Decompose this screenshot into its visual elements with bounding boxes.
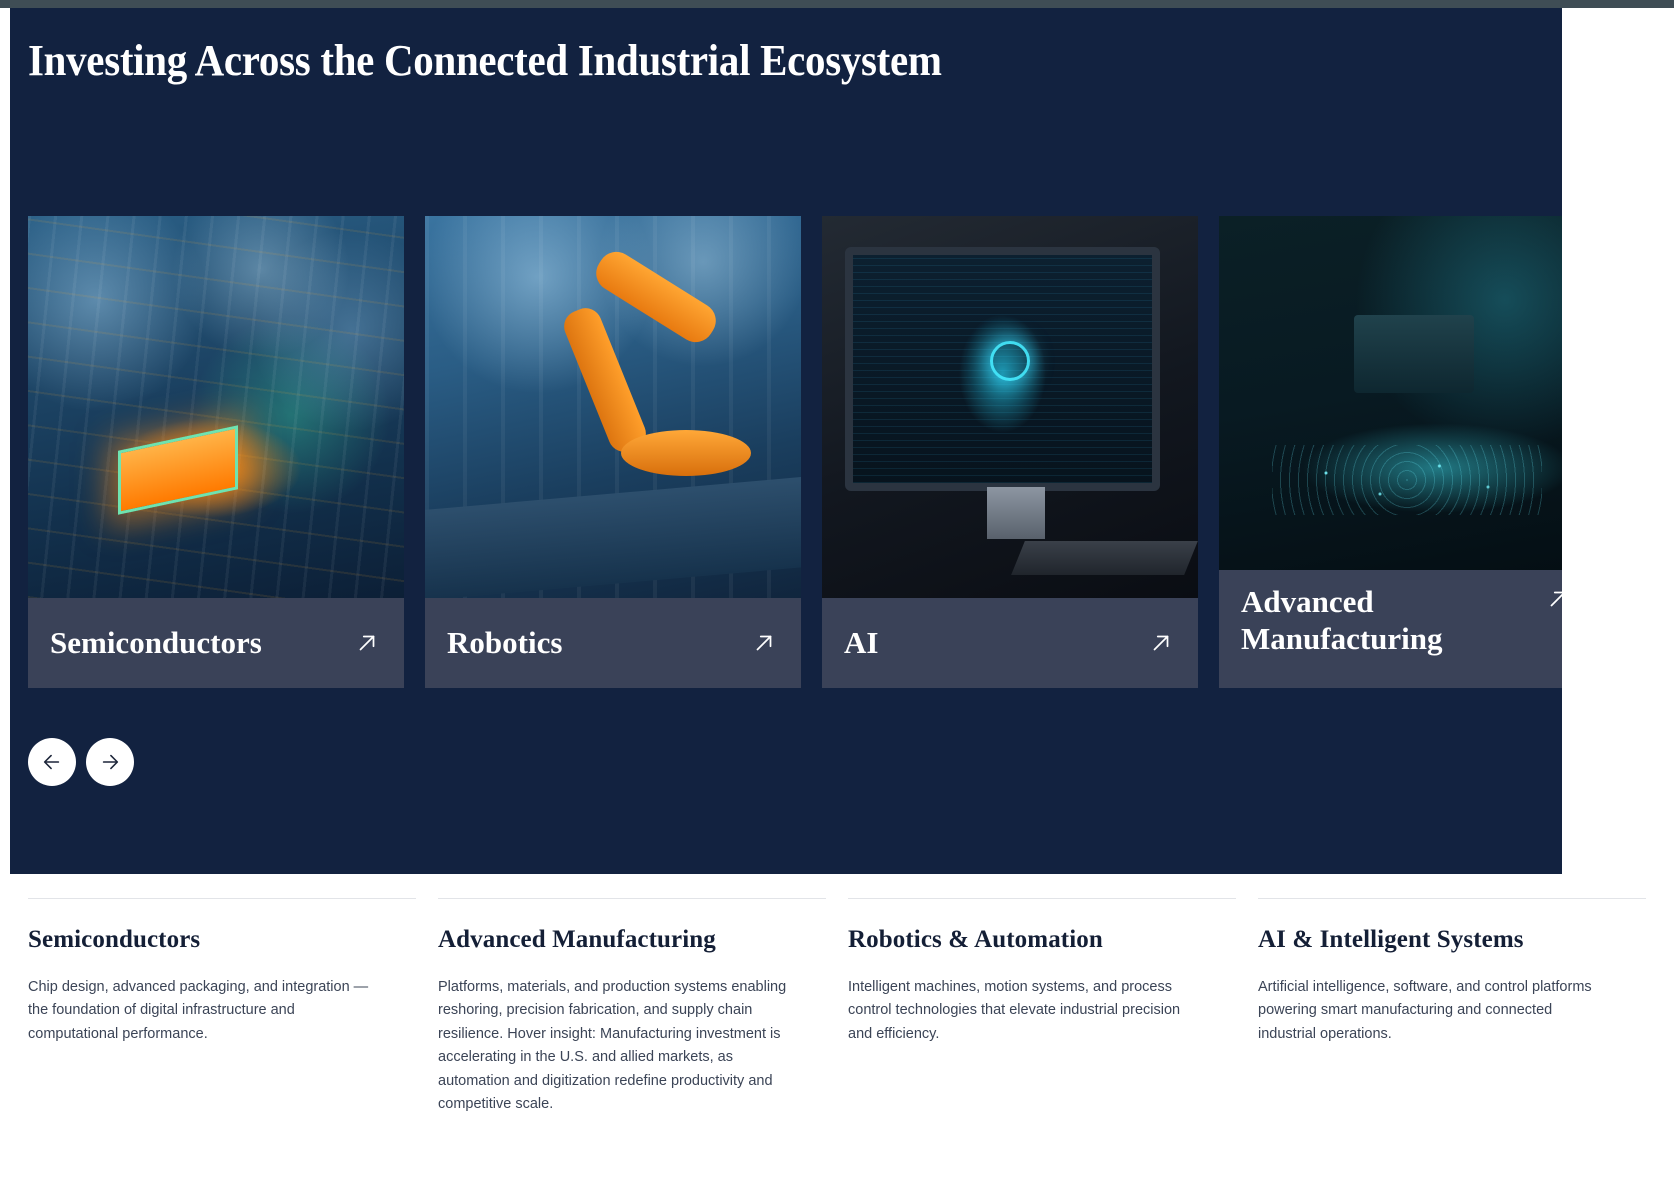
arrow-up-right-icon[interactable] (1146, 628, 1176, 658)
arrow-up-right-icon[interactable] (749, 628, 779, 658)
info-column-advanced-manufacturing: Advanced Manufacturing Platforms, materi… (438, 898, 826, 1194)
arrow-left-icon (41, 751, 63, 773)
arrow-right-icon (99, 751, 121, 773)
card-image-ai (822, 216, 1198, 598)
carousel-prev-button[interactable] (28, 738, 76, 786)
carousel-card-robotics[interactable]: Robotics (425, 216, 801, 688)
arrow-up-right-icon[interactable] (352, 628, 382, 658)
machine-tool-graphic (1354, 315, 1474, 393)
robot-base-graphic (621, 430, 751, 476)
card-caption: Semiconductors (28, 598, 404, 688)
monitor-graphic (845, 247, 1161, 491)
spark-particles-graphic (1272, 445, 1543, 515)
category-detail-columns: Semiconductors Chip design, advanced pac… (0, 898, 1674, 1194)
arrow-up-right-icon[interactable] (1543, 584, 1562, 614)
top-strip (0, 0, 1674, 8)
info-column-title: Advanced Manufacturing (438, 925, 792, 955)
page-title: Investing Across the Connected Industria… (28, 36, 942, 87)
card-label: Semiconductors (50, 625, 262, 662)
card-label: AI (844, 625, 878, 662)
info-column-semiconductors: Semiconductors Chip design, advanced pac… (28, 898, 416, 1194)
carousel-navigation[interactable] (28, 738, 134, 786)
monitor-stand-graphic (987, 487, 1045, 539)
info-column-robotics-automation: Robotics & Automation Intelligent machin… (848, 898, 1236, 1194)
info-column-title: Robotics & Automation (848, 925, 1202, 955)
card-caption: Robotics (425, 598, 801, 688)
category-carousel[interactable]: Semiconductors (28, 216, 1562, 694)
info-column-body: Artificial intelligence, software, and c… (1258, 976, 1610, 1046)
page-root: Investing Across the Connected Industria… (0, 0, 1674, 1194)
card-image-robotics (425, 216, 801, 598)
carousel-card-semiconductors[interactable]: Semiconductors (28, 216, 404, 688)
carousel-card-ai[interactable]: AI (822, 216, 1198, 688)
info-column-title: AI & Intelligent Systems (1258, 925, 1612, 955)
info-column-ai-intelligent-systems: AI & Intelligent Systems Artificial inte… (1258, 898, 1646, 1194)
card-caption: Advanced Manufacturing (1219, 570, 1562, 688)
carousel-next-button[interactable] (86, 738, 134, 786)
card-caption: AI (822, 598, 1198, 688)
info-column-body: Platforms, materials, and production sys… (438, 976, 790, 1117)
hero-section: Investing Across the Connected Industria… (10, 8, 1562, 874)
info-column-body: Chip design, advanced packaging, and int… (28, 976, 380, 1046)
card-image-semiconductors (28, 216, 404, 598)
card-label: Advanced Manufacturing (1241, 584, 1511, 657)
card-image-advanced-manufacturing (1219, 216, 1562, 598)
info-column-body: Intelligent machines, motion systems, an… (848, 976, 1200, 1046)
info-column-title: Semiconductors (28, 925, 382, 955)
carousel-card-advanced-manufacturing[interactable]: Advanced Manufacturing (1219, 216, 1562, 688)
card-label: Robotics (447, 625, 562, 662)
keyboard-graphic (1011, 541, 1198, 575)
